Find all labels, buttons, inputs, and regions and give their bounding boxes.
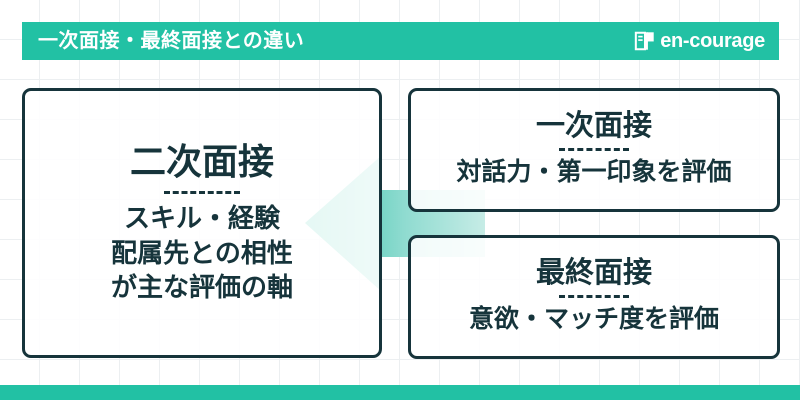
brand-logo: en-courage [634,30,765,52]
infographic-canvas: 一次面接・最終面接との違い en-courage [0,0,800,400]
page-title: 一次面接・最終面接との違い [38,31,304,51]
header-bar: 一次面接・最終面接との違い en-courage [22,22,779,60]
card-title: 二次面接 [130,142,274,182]
dashed-divider [559,148,629,151]
card-body-line: スキル・経験 [111,201,293,235]
footer-accent-strip [0,385,800,400]
brand-name: en-courage [660,31,765,51]
card-body-line: 意欲・マッチ度を評価 [469,303,719,336]
dashed-divider [164,191,240,194]
card-final-interview: 最終面接 意欲・マッチ度を評価 [408,235,780,359]
card-body: スキル・経験 配属先との相性 が主な評価の軸 [111,201,293,304]
card-body: 意欲・マッチ度を評価 [469,303,719,336]
card-body-line: 対話力・第一印象を評価 [456,156,731,189]
book-flag-icon [634,30,656,52]
dashed-divider [559,295,629,298]
card-second-interview: 二次面接 スキル・経験 配属先との相性 が主な評価の軸 [22,88,382,358]
card-first-interview: 一次面接 対話力・第一印象を評価 [408,88,780,212]
card-title: 最終面接 [536,258,652,290]
card-title: 一次面接 [536,111,652,143]
card-body: 対話力・第一印象を評価 [456,156,731,189]
card-body-line: 配属先との相性 [111,236,293,270]
card-body-line: が主な評価の軸 [111,270,293,304]
